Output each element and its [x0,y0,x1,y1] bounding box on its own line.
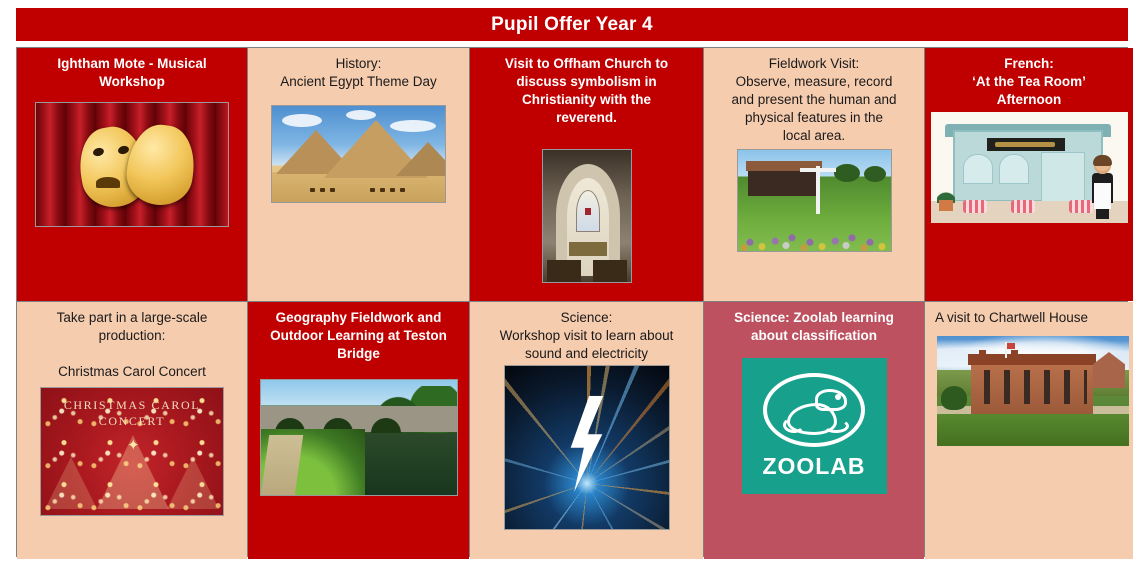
page-header-banner: Pupil Offer Year 4 [16,8,1128,41]
christmas-carol-concert-poster: ✦ CHRISTMAS CAROL CONCERT [40,387,224,516]
offer-grid: Ightham Mote - Musical Workshop History:… [16,47,1128,557]
chartwell-house-image [937,336,1129,446]
church-interior-image [542,149,632,283]
zoolab-frog-icon [763,373,865,447]
cell-history-egypt[interactable]: History: Ancient Egypt Theme Day [248,48,469,301]
cell-science-zoolab[interactable]: Science: Zoolab learning about classific… [704,302,924,559]
cell-french-tea-room[interactable]: French: ‘At the Tea Room’ Afternoon [925,48,1133,301]
cell-title-science-zoolab: Science: Zoolab learning about classific… [710,309,918,345]
cell-chartwell-house[interactable]: A visit to Chartwell House [925,302,1133,559]
lightning-bolt-image [504,365,670,530]
cell-ightham-mote[interactable]: Ightham Mote - Musical Workshop [17,48,247,301]
cell-title-chartwell-house: A visit to Chartwell House [931,309,1127,327]
egypt-pyramids-image [271,105,446,203]
cell-science-sound-electricity[interactable]: Science: Workshop visit to learn about s… [470,302,703,559]
cell-fieldwork-visit[interactable]: Fieldwork Visit: Observe, measure, recor… [704,48,924,301]
tea-room-sign [987,138,1065,151]
cell-title-science-sound-electricity: Science: Workshop visit to learn about s… [476,309,697,363]
page-title: Pupil Offer Year 4 [491,15,653,34]
zoolab-wordmark: ZOOLAB [762,455,865,478]
cell-title-history-egypt: History: Ancient Egypt Theme Day [254,55,463,91]
village-green-fieldwork-image [737,149,892,252]
cell-offham-church[interactable]: Visit to Offham Church to discuss symbol… [470,48,703,301]
cell-title-french-tea-room: French: ‘At the Tea Room’ Afternoon [931,55,1127,109]
theatre-masks-features [36,103,228,226]
teston-bridge-river-image [260,379,458,496]
french-tea-room-image [931,112,1128,223]
cell-title-offham-church: Visit to Offham Church to discuss symbol… [476,55,697,127]
cell-title-teston-bridge: Geography Fieldwork and Outdoor Learning… [254,309,463,363]
cell-title-fieldwork-visit: Fieldwork Visit: Observe, measure, recor… [710,55,918,145]
cell-teston-bridge[interactable]: Geography Fieldwork and Outdoor Learning… [248,302,469,559]
poster-caption: CHRISTMAS CAROL CONCERT [41,398,223,430]
cell-christmas-carol-concert[interactable]: Take part in a large-scale production: C… [17,302,247,559]
pupil-offer-document: Pupil Offer Year 4 Ightham Mote - Musica… [0,0,1140,568]
zoolab-logo-image: ZOOLAB [742,358,887,494]
theatre-masks-image [35,102,229,227]
cell-title-ightham-mote: Ightham Mote - Musical Workshop [23,55,241,91]
waitress-figure [1090,157,1116,219]
cell-title-christmas-carol-concert: Take part in a large-scale production: C… [23,309,241,381]
